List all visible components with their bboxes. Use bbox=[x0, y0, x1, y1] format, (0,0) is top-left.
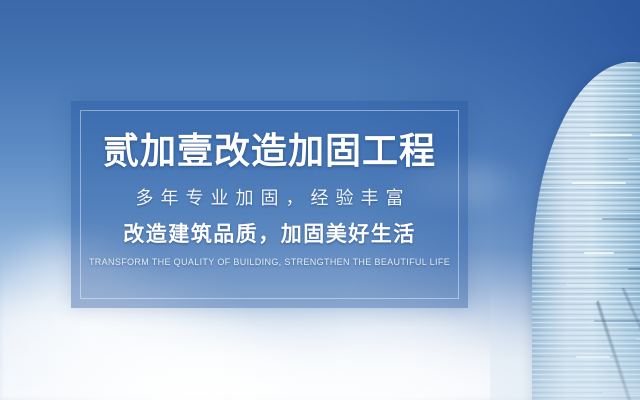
headline-panel: 贰加壹改造加固工程 多年专业加固，经验丰富 改造建筑品质，加固美好生活 TRAN… bbox=[71, 101, 468, 308]
tagline-chinese: 改造建筑品质，加固美好生活 bbox=[123, 222, 416, 247]
subtitle-chinese: 多年专业加固，经验丰富 bbox=[129, 188, 411, 210]
skyscraper-base-haze bbox=[490, 280, 640, 400]
promo-banner: 贰加壹改造加固工程 多年专业加固，经验丰富 改造建筑品质，加固美好生活 TRAN… bbox=[0, 0, 640, 400]
skyscraper-image bbox=[490, 0, 640, 400]
tagline-english: TRANSFORM THE QUALITY OF BUILDING, STREN… bbox=[89, 257, 450, 268]
panel-content: 贰加壹改造加固工程 多年专业加固，经验丰富 改造建筑品质，加固美好生活 TRAN… bbox=[71, 101, 468, 308]
page-title: 贰加壹改造加固工程 bbox=[103, 131, 436, 171]
